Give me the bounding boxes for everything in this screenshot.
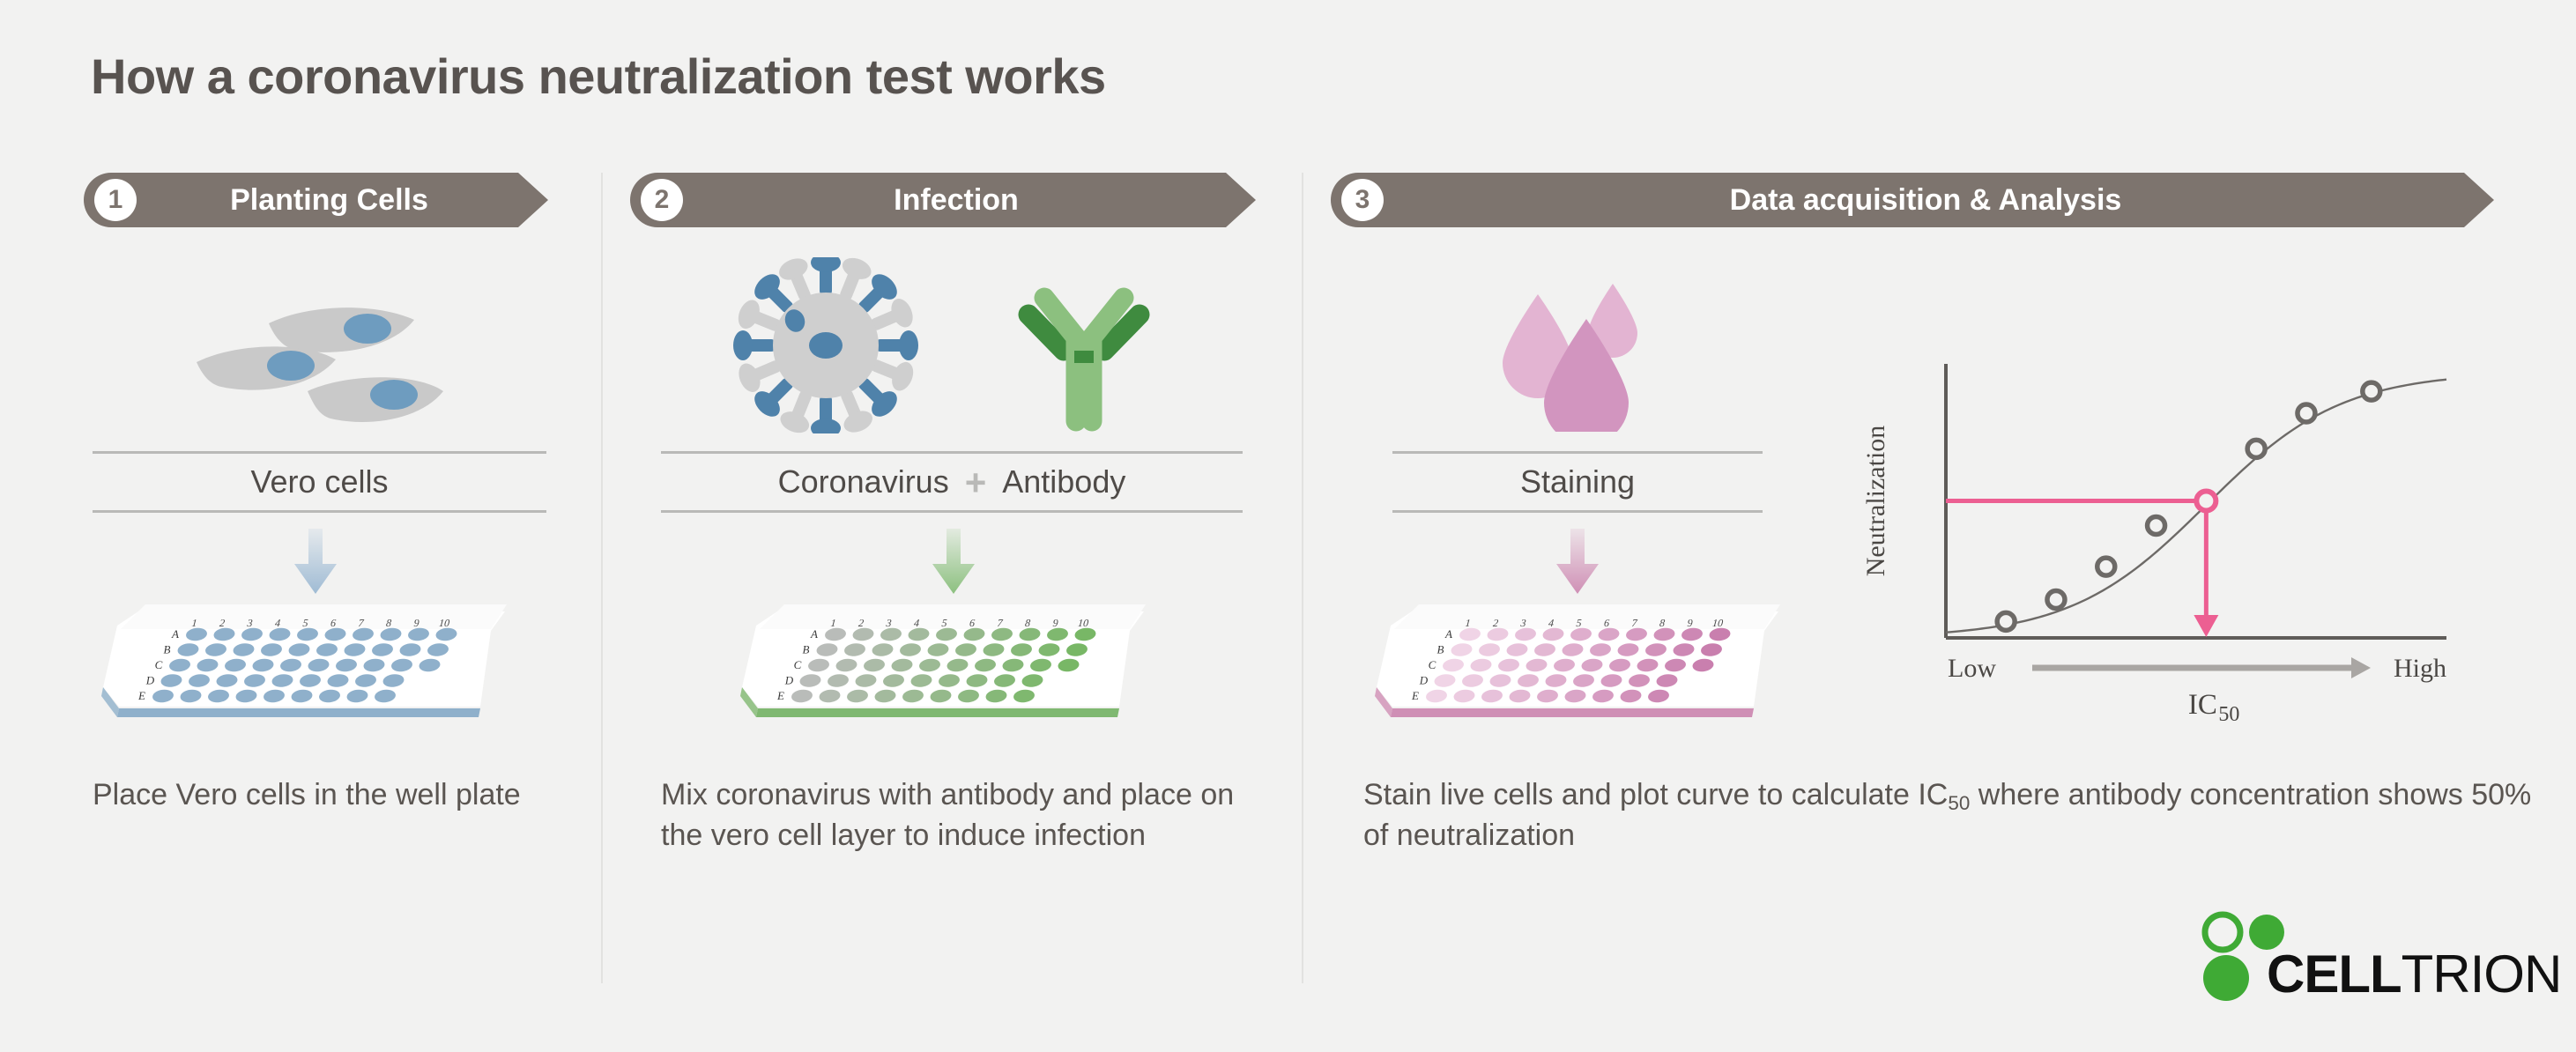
page-title: How a coronavirus neutralization test wo… [91, 48, 1106, 105]
well-plate-1: 12345678910ABCDE [93, 599, 516, 727]
well-plate-2: 12345678910ABCDE [731, 599, 1154, 727]
svg-text:E: E [776, 689, 784, 702]
label-text: Staining [1520, 463, 1635, 500]
svg-text:B: B [164, 643, 171, 656]
celltrion-logo: CELLTRION [2196, 909, 2513, 1008]
well-plate-3: 12345678910ABCDE [1366, 599, 1789, 727]
svg-text:3: 3 [1519, 617, 1526, 629]
step-number-badge: 2 [641, 179, 683, 221]
svg-text:6: 6 [330, 617, 337, 629]
svg-text:6: 6 [969, 617, 976, 629]
svg-text:5: 5 [1576, 617, 1582, 629]
svg-text:9: 9 [413, 617, 419, 629]
column-divider-1 [601, 173, 603, 983]
svg-text:4: 4 [914, 617, 920, 629]
svg-text:6: 6 [1604, 617, 1610, 629]
svg-text:E: E [137, 689, 145, 702]
svg-text:Low: Low [1948, 654, 1996, 683]
svg-text:50: 50 [2218, 703, 2239, 722]
svg-text:High: High [2394, 654, 2446, 683]
down-arrow-icon-pink [1555, 529, 1600, 596]
label-text: Vero cells [250, 463, 388, 500]
svg-text:9: 9 [1687, 617, 1693, 629]
svg-text:2: 2 [219, 617, 226, 629]
antibody-icon [1000, 260, 1168, 432]
svg-text:1: 1 [830, 617, 836, 629]
svg-text:4: 4 [1548, 617, 1555, 629]
svg-text:D: D [784, 674, 794, 687]
step-caption-1: Place Vero cells in the well plate [93, 775, 551, 816]
svg-text:D: D [1419, 674, 1429, 687]
label-band-staining: Staining [1392, 451, 1763, 513]
neutralization-curve-chart: NeutralizationLowHighIC50 [1851, 348, 2459, 722]
svg-text:5: 5 [941, 617, 947, 629]
svg-text:A: A [810, 627, 818, 641]
svg-text:A: A [1444, 627, 1452, 641]
label-band-vero-cells: Vero cells [93, 451, 546, 513]
svg-text:8: 8 [1025, 617, 1031, 629]
svg-text:E: E [1411, 689, 1419, 702]
label-text-left: Coronavirus [778, 463, 949, 500]
svg-text:D: D [145, 674, 155, 687]
celltrion-wordmark: CELLTRION [2267, 948, 2561, 1001]
brand-name-light: TRION [2402, 945, 2562, 1004]
label-band-coronavirus-antibody: Coronavirus + Antibody [661, 451, 1243, 513]
step-banner-2: 2 Infection [630, 173, 1256, 227]
svg-text:10: 10 [1078, 617, 1089, 629]
step-title: Planting Cells [145, 173, 513, 227]
svg-text:B: B [803, 643, 810, 656]
svg-text:B: B [1437, 643, 1444, 656]
svg-text:Neutralization: Neutralization [1861, 426, 1890, 577]
step-banner-3: 3 Data acquisition & Analysis [1331, 173, 2494, 227]
step-title: Infection [692, 173, 1221, 227]
step-title: Data acquisition & Analysis [1392, 173, 2459, 227]
svg-text:3: 3 [885, 617, 892, 629]
down-arrow-icon-blue [293, 529, 338, 596]
svg-text:2: 2 [858, 617, 865, 629]
staining-droplets-icon [1489, 264, 1683, 432]
label-text-right: Antibody [1002, 463, 1125, 500]
vero-cells-icon [163, 269, 445, 432]
step-caption-2: Mix coronavirus with antibody and place … [661, 775, 1260, 856]
svg-text:2: 2 [1493, 617, 1499, 629]
svg-text:C: C [155, 658, 163, 671]
svg-text:10: 10 [1712, 617, 1724, 629]
svg-text:3: 3 [246, 617, 253, 629]
caption-subscript: 50 [1948, 792, 1970, 814]
step-number-badge: 3 [1341, 179, 1384, 221]
svg-text:C: C [1429, 658, 1436, 671]
plus-icon: + [965, 462, 987, 504]
svg-text:1: 1 [1465, 617, 1471, 629]
step-caption-3: Stain live cells and plot curve to calcu… [1363, 775, 2535, 856]
svg-text:1: 1 [191, 617, 197, 629]
svg-text:IC: IC [2188, 689, 2217, 721]
step-banner-1: 1 Planting Cells [84, 173, 548, 227]
svg-text:4: 4 [275, 617, 281, 629]
step-number-badge: 1 [94, 179, 137, 221]
svg-text:C: C [794, 658, 802, 671]
svg-text:9: 9 [1052, 617, 1058, 629]
caption-text-before: Stain live cells and plot curve to calcu… [1363, 778, 1948, 811]
down-arrow-icon-green [931, 529, 976, 596]
brand-name-bold: CELL [2267, 945, 2402, 1004]
svg-text:A: A [171, 627, 179, 641]
svg-text:10: 10 [439, 617, 450, 629]
svg-text:8: 8 [1659, 617, 1666, 629]
coronavirus-icon [716, 257, 936, 433]
svg-text:8: 8 [386, 617, 392, 629]
svg-text:5: 5 [302, 617, 308, 629]
column-divider-2 [1302, 173, 1303, 983]
